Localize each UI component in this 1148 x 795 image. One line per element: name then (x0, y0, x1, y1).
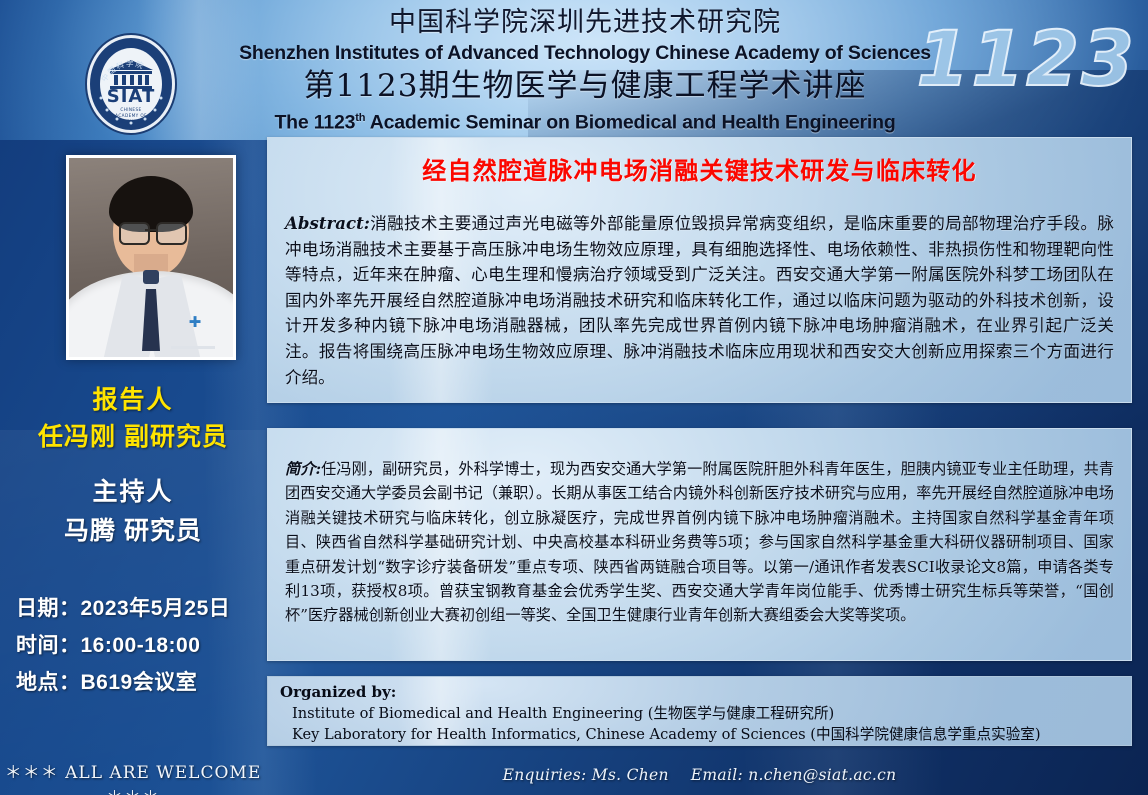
svg-text:SIAT: SIAT (107, 86, 155, 107)
seminar-title-en: The 1123th Academic Seminar on Biomedica… (190, 106, 980, 136)
organizer-line-1: Institute of Biomedical and Health Engin… (280, 703, 1131, 724)
speaker-info: 报告人 任冯刚 副研究员 主持人 马腾 研究员 (0, 382, 266, 550)
enquiries-contact: Enquiries: Ms. Chen (503, 766, 669, 784)
talk-title: 经自然腔道脉冲电场消融关键技术研发与临床转化 (268, 138, 1131, 187)
bio-text: 任冯刚，副研究员，外科学博士，现为西安交通大学第一附属医院肝胆外科青年医生，胆胰… (285, 460, 1114, 624)
abstract-text-block: Abstract:消融技术主要通过声光电磁等外部能量原位毁损异常病变组织，是临床… (268, 187, 1131, 390)
time-value: 16:00-18:00 (81, 634, 201, 657)
organized-by-title: Organized by: (280, 682, 1131, 703)
seminar-title-en-pre: The 1123 (274, 112, 355, 134)
reporter-name: 任冯刚 副研究员 (0, 418, 266, 456)
bio-text-block: 简介:任冯刚，副研究员，外科学博士，现为西安交通大学第一附属医院肝胆外科青年医生… (268, 429, 1131, 628)
header-banner: SIAT CHINESE ACADEMY OF SCIENCES 中国科学院 中… (0, 0, 1148, 140)
abstract-text: 消融技术主要通过声光电磁等外部能量原位毁损异常病变组织，是临床重要的局部物理治疗… (285, 214, 1114, 387)
abstract-panel: 经自然腔道脉冲电场消融关键技术研发与临床转化 Abstract:消融技术主要通过… (267, 137, 1132, 403)
biography-panel: 简介:任冯刚，副研究员，外科学博士，现为西安交通大学第一附属医院肝胆外科青年医生… (267, 428, 1132, 661)
time-label: 时间： (16, 634, 81, 657)
event-time-row: 时间：16:00-18:00 (16, 627, 266, 664)
issue-number-watermark: 1123 (916, 14, 1136, 103)
speaker-photo-frame: ✚ (66, 155, 236, 360)
organizers-content: Organized by: Institute of Biomedical an… (268, 677, 1131, 745)
organizers-panel: Organized by: Institute of Biomedical an… (267, 676, 1132, 746)
seminar-title-cn: 第1123期生物医学与健康工程学术讲座 (190, 66, 980, 106)
portrait-coat-pocket (171, 346, 215, 349)
portrait-glasses-right (156, 222, 187, 245)
date-value: 2023年5月25日 (81, 597, 231, 620)
institute-name-en: Shenzhen Institutes of Advanced Technolo… (190, 40, 980, 66)
event-details: 日期：2023年5月25日 时间：16:00-18:00 地点：B619会议室 (16, 590, 266, 701)
seminar-title-ordinal: th (355, 112, 365, 124)
seminar-title-en-post: Academic Seminar on Biomedical and Healt… (365, 112, 895, 134)
hospital-emblem-icon: ✚ (187, 315, 203, 331)
svg-text:ACADEMY OF: ACADEMY OF (115, 113, 147, 118)
portrait-tie-knot (143, 270, 159, 284)
speaker-photo: ✚ (69, 158, 233, 357)
header-titles: 中国科学院深圳先进技术研究院 Shenzhen Institutes of Ad… (190, 6, 980, 136)
abstract-label: Abstract: (285, 213, 370, 233)
portrait-glasses-bridge (145, 229, 157, 231)
enquiries-email: Email: n.chen@siat.ac.cn (691, 766, 897, 784)
enquiries-footer: Enquiries: Ms. ChenEmail: n.chen@siat.ac… (267, 766, 1132, 784)
event-date-row: 日期：2023年5月25日 (16, 590, 266, 627)
organizer-line-2: Key Laboratory for Health Informatics, C… (280, 724, 1131, 745)
abstract-panel-content: 经自然腔道脉冲电场消融关键技术研发与临床转化 Abstract:消融技术主要通过… (268, 138, 1131, 390)
siat-logo: SIAT CHINESE ACADEMY OF SCIENCES 中国科学院 (83, 32, 179, 136)
bio-label: 简介: (285, 460, 321, 478)
event-venue-row: 地点：B619会议室 (16, 664, 266, 701)
venue-value: B619会议室 (81, 671, 198, 694)
host-name: 马腾 研究员 (0, 512, 266, 550)
welcome-note: ＊＊＊ ALL ARE WELCOME ＊＊＊ (0, 758, 266, 795)
institute-name-cn: 中国科学院深圳先进技术研究院 (190, 6, 980, 40)
date-label: 日期： (16, 597, 81, 620)
portrait-glasses-left (119, 222, 150, 245)
reporter-label: 报告人 (0, 382, 266, 418)
host-label: 主持人 (0, 472, 266, 512)
svg-text:CHINESE: CHINESE (120, 107, 141, 112)
seminar-poster: SIAT CHINESE ACADEMY OF SCIENCES 中国科学院 中… (0, 0, 1148, 795)
biography-panel-content: 简介:任冯刚，副研究员，外科学博士，现为西安交通大学第一附属医院肝胆外科青年医生… (268, 429, 1131, 628)
venue-label: 地点： (16, 671, 81, 694)
